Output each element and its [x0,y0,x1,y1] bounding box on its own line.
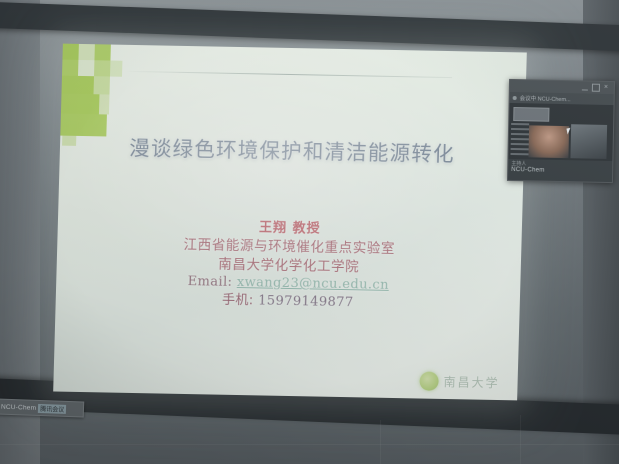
vc-shared-screen[interactable] [570,124,607,159]
wall-seam [520,415,521,464]
maximize-icon[interactable] [592,84,600,92]
screen-frame-right [583,0,619,464]
email-address[interactable]: xwang23@ncu.edu.cn [237,275,389,293]
green-mosaic-decoration [60,44,127,137]
phone-number: 15979149877 [258,294,354,311]
university-emblem-icon [419,372,439,391]
mouse-cursor-icon [566,128,571,135]
title-divider [124,71,452,79]
minimize-icon[interactable] [582,85,588,90]
presentation-slide: 漫谈绿色环境保护和清洁能源转化 王翔 教授 江西省能源与环境催化重点实验室 南昌… [53,44,527,401]
slide-title: 漫谈绿色环境保护和清洁能源转化 [60,130,525,169]
recording-dot-icon [513,95,517,99]
university-logo: 南昌大学 [419,372,500,393]
vc-side-caption [510,123,529,157]
vc-subtitle: 会议中 NCU-Chem... [520,94,571,103]
email-label: Email: [187,274,232,290]
vc-footer: 主持人 NCU-Chem [508,159,612,183]
vc-speaker-video[interactable] [528,125,569,158]
video-conference-window[interactable]: × 会议中 NCU-Chem... 主持人 NCU-Chem [507,79,615,183]
vc-video-stage[interactable] [508,103,613,161]
close-icon[interactable]: × [604,85,610,91]
taskbar-item-ncu-chem[interactable]: NCU-Chem 腾讯会议 [0,398,84,417]
vc-host-name: NCU-Chem [511,167,609,175]
university-name: 南昌大学 [443,373,499,391]
wall-seam [0,444,619,445]
taskbar-item-badge: 腾讯会议 [38,403,66,413]
projector-room-photo: 漫谈绿色环境保护和清洁能源转化 王翔 教授 江西省能源与环境催化重点实验室 南昌… [0,0,619,464]
phone-label: 手机: [222,293,254,309]
taskbar-item-label: NCU-Chem [1,403,36,411]
vc-participant-thumbnail[interactable] [513,107,549,122]
slide-body: 王翔 教授 江西省能源与环境催化重点实验室 南昌大学化学化工学院 Email: … [56,216,522,316]
wall-seam [380,420,381,464]
